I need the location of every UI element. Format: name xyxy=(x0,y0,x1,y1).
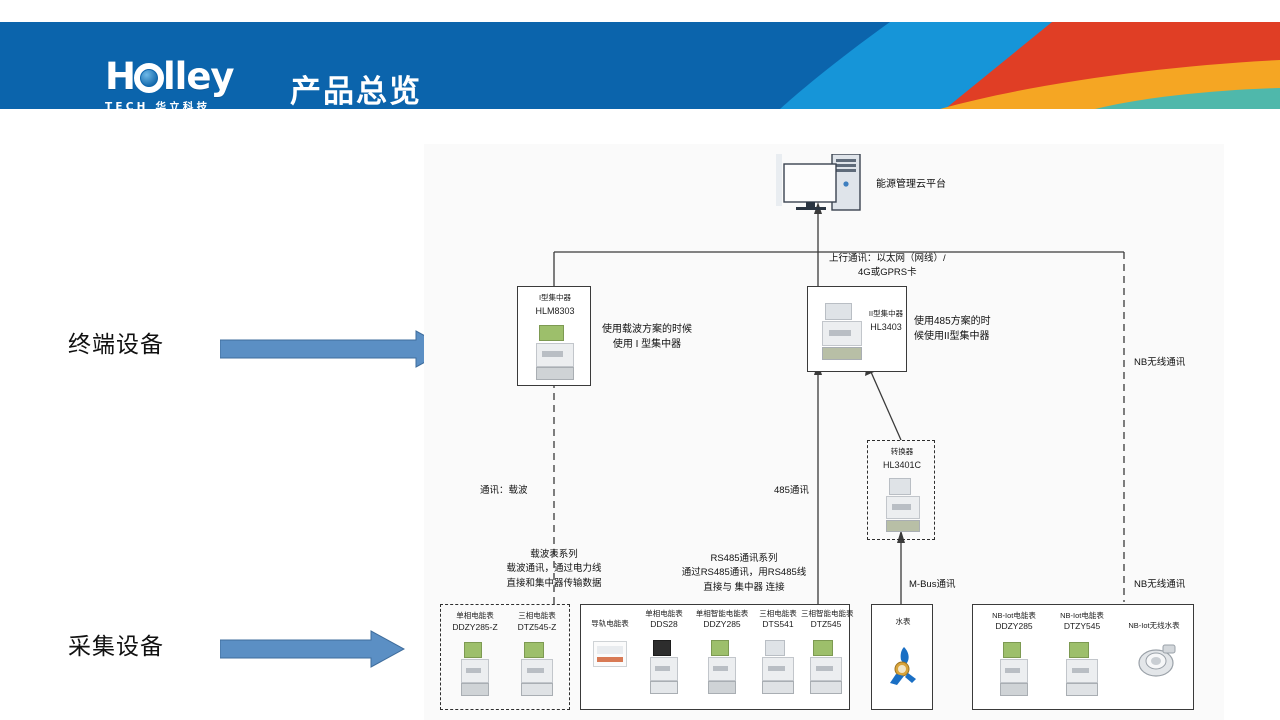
concentrator-type-2-image xyxy=(820,299,864,361)
nb-device-2[interactable]: NB-Iot无线水表 xyxy=(1119,621,1189,674)
nb-device-1-image xyxy=(1065,639,1099,697)
concentrator-type-2-box[interactable]: II型集中器 HL3403 xyxy=(807,286,907,372)
carrier-series-group: 单相电能表 DDZY285-Z 三相电能表 DTZ545-Z xyxy=(440,604,570,710)
concentrator-type-2-model: HL3403 xyxy=(866,321,906,333)
rs485-device-2-image xyxy=(707,637,737,695)
converter-model: HL3401C xyxy=(868,459,936,471)
rs485-device-3[interactable]: 三相电能表 DTS541 xyxy=(755,609,801,689)
carrier-device-0-image xyxy=(460,639,490,697)
page-title: 产品总览 xyxy=(290,66,422,109)
nb-device-0-name: NB-Iot电能表 xyxy=(981,611,1047,621)
edge-label-nb-right: NB无线通讯 xyxy=(1134,356,1185,370)
concentrator-type-1-note-line-2: 使用 I 型集中器 xyxy=(602,337,692,352)
logo-tagline: TECH 华立科技 xyxy=(105,99,265,109)
mbus-device-0-image xyxy=(888,645,920,687)
rs485-series-caption: RS485通讯系列 通过RS485通讯，用RS485线 直接与 集中器 连接 xyxy=(594,552,894,595)
rs485-device-0-name: 导轨电能表 xyxy=(585,619,635,629)
concentrator-type-1-note: 使用载波方案的时候 使用 I 型集中器 xyxy=(602,322,692,352)
stage-label-collection: 采集设备 xyxy=(68,627,164,661)
rs485-device-1-image xyxy=(649,637,679,695)
nb-device-1[interactable]: NB-Iot电能表 DTZY545 xyxy=(1049,611,1115,691)
stage-label-terminal: 终端设备 xyxy=(68,325,164,359)
rs485-series-title: RS485通讯系列 xyxy=(594,552,894,566)
rs485-device-2-model: DDZY285 xyxy=(691,619,753,630)
cloud-platform-label: 能源管理云平台 xyxy=(876,177,946,192)
carrier-device-1-name: 三相电能表 xyxy=(509,611,565,621)
architecture-diagram: 能源管理云平台 上行通讯：以太网（网线）/ 4G或GPRS卡 I型集中器 HLM… xyxy=(424,144,1224,720)
nb-device-1-model: DTZY545 xyxy=(1049,621,1115,632)
concentrator-type-2-note-line-2: 候使用II型集中器 xyxy=(914,329,991,344)
rs485-device-2-name: 单相智能电能表 xyxy=(691,609,753,619)
mbus-device-0-name: 水表 xyxy=(872,617,934,627)
concentrator-type-1-model: HLM8303 xyxy=(518,305,592,317)
converter-box[interactable]: 转换器 HL3401C xyxy=(867,440,935,540)
edge-label-mbus: M-Bus通讯 xyxy=(909,578,955,592)
carrier-device-1[interactable]: 三相电能表 DTZ545-Z xyxy=(509,611,565,691)
rs485-device-3-name: 三相电能表 xyxy=(755,609,801,619)
desktop-computer-icon xyxy=(776,154,866,216)
rs485-device-0[interactable]: 导轨电能表 xyxy=(585,619,635,655)
logo-o-ring-icon xyxy=(134,63,164,93)
carrier-device-0-model: DDZY285-Z xyxy=(447,622,503,633)
concentrator-type-1-note-line-1: 使用载波方案的时候 xyxy=(602,322,692,337)
logo-rest: lley xyxy=(163,55,234,98)
carrier-device-1-model: DTZ545-Z xyxy=(509,622,565,633)
edge-label-carrier: 通讯：载波 xyxy=(480,484,528,498)
uplink-line-1: 上行通讯：以太网（网线）/ xyxy=(829,252,946,266)
rs485-device-2[interactable]: 单相智能电能表 DDZY285 xyxy=(691,609,753,689)
carrier-device-1-image xyxy=(520,639,554,697)
rs485-series-desc-1: 通过RS485通讯，用RS485线 xyxy=(594,566,894,580)
logo-h: H xyxy=(105,55,135,98)
carrier-device-0[interactable]: 单相电能表 DDZY285-Z xyxy=(447,611,503,691)
rs485-device-4-name: 三相智能电能表 xyxy=(801,609,851,619)
stage-arrow-terminal xyxy=(220,330,450,368)
nb-device-0-model: DDZY285 xyxy=(981,621,1047,632)
concentrator-type-1-name: I型集中器 xyxy=(518,293,592,303)
header-swoosh-decoration xyxy=(780,22,1280,109)
concentrator-type-1-box[interactable]: I型集中器 HLM8303 xyxy=(517,286,591,386)
rs485-device-1[interactable]: 单相电能表 DDS28 xyxy=(637,609,691,689)
carrier-device-0-name: 单相电能表 xyxy=(447,611,503,621)
concentrator-type-1-image xyxy=(534,321,576,381)
uplink-line-2: 4G或GPRS卡 xyxy=(829,266,946,280)
rs485-device-3-image xyxy=(761,637,795,695)
rs485-series-desc-2: 直接与 集中器 连接 xyxy=(594,581,894,595)
edge-label-rs485: 485通讯 xyxy=(774,484,809,498)
rs485-device-0-image xyxy=(593,641,627,667)
rs485-device-4[interactable]: 三相智能电能表 DTZ545 xyxy=(801,609,851,689)
holley-logo: Hlley TECH 华立科技 xyxy=(105,58,265,109)
nb-device-2-image xyxy=(1133,641,1179,679)
edge-label-nb-bottom: NB无线通讯 xyxy=(1134,578,1185,592)
nb-device-2-name: NB-Iot无线水表 xyxy=(1119,621,1189,631)
rs485-device-4-image xyxy=(809,637,843,695)
converter-name: 转换器 xyxy=(868,447,936,457)
nb-series-group: NB-Iot电能表 DDZY285 NB-Iot电能表 DTZY545 NB-I… xyxy=(972,604,1194,710)
uplink-communication-label: 上行通讯：以太网（网线）/ 4G或GPRS卡 xyxy=(829,252,946,280)
nb-device-0[interactable]: NB-Iot电能表 DDZY285 xyxy=(981,611,1047,691)
slide-root: Hlley TECH 华立科技 产品总览 终端设备 采集设备 xyxy=(0,0,1280,720)
stage-arrow-collection xyxy=(220,630,405,668)
logo-wordmark: Hlley xyxy=(105,58,265,95)
rs485-device-1-name: 单相电能表 xyxy=(637,609,691,619)
rs485-device-3-model: DTS541 xyxy=(755,619,801,630)
slide-header: Hlley TECH 华立科技 产品总览 xyxy=(0,22,1280,109)
rs485-device-4-model: DTZ545 xyxy=(801,619,851,630)
nb-device-0-image xyxy=(999,639,1029,697)
nb-device-1-name: NB-Iot电能表 xyxy=(1049,611,1115,621)
rs485-device-1-model: DDS28 xyxy=(637,619,691,630)
converter-image xyxy=(884,475,922,533)
concentrator-type-2-note: 使用485方案的时 候使用II型集中器 xyxy=(914,314,991,344)
mbus-series-group: 水表 xyxy=(871,604,933,710)
concentrator-type-2-name: II型集中器 xyxy=(866,309,906,319)
concentrator-type-2-note-line-1: 使用485方案的时 xyxy=(914,314,991,329)
rs485-series-group: 导轨电能表 单相电能表 DDS28 单相智能电能表 DDZY285 xyxy=(580,604,850,710)
